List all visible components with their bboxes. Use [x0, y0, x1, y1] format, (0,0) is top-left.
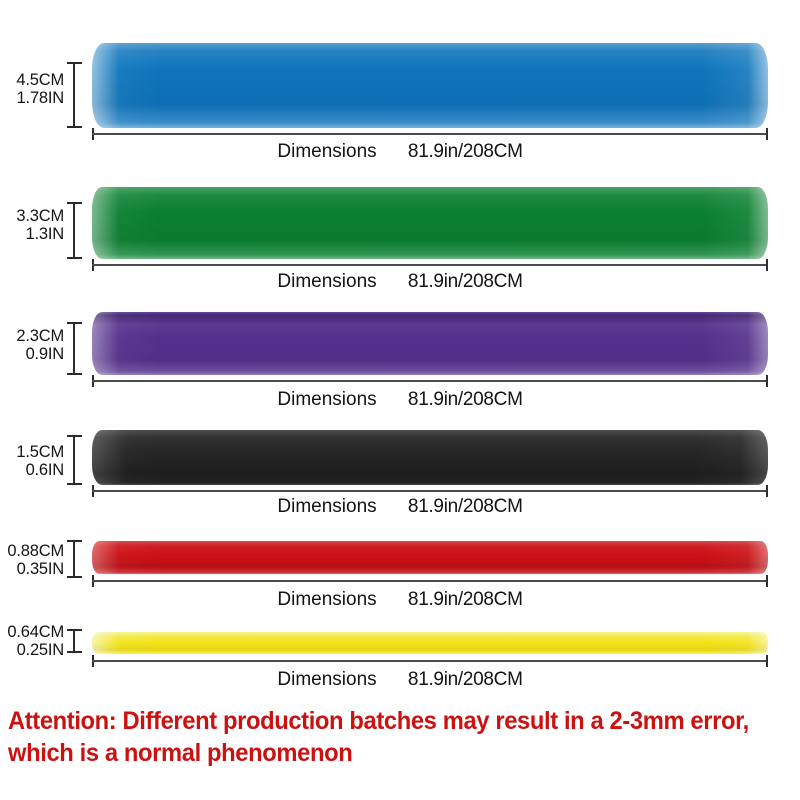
- red-band-length-caption: Dimensions 81.9in/208CM: [0, 589, 800, 611]
- length-tick-right-icon: [766, 375, 768, 387]
- caption-label: Dimensions: [277, 271, 376, 292]
- measure-cap-bottom-icon: [67, 126, 82, 128]
- red-band-length-measure: [92, 575, 768, 587]
- yellow-band-height-measure: [66, 629, 82, 653]
- measure-cap-bottom-icon: [67, 576, 82, 578]
- black-band-width-cm: 1.5CM: [8, 444, 64, 462]
- purple-band-length-measure: [92, 375, 768, 387]
- green-band-height-measure: [66, 202, 82, 259]
- attention-note-line-2: which is a normal phenomenon: [8, 738, 759, 770]
- attention-note-line-1: Attention: Different production batches …: [8, 706, 759, 738]
- length-line-icon: [92, 490, 768, 492]
- blue-band-width-label: 4.5CM 1.78IN: [8, 72, 64, 108]
- red-band-width-cm: 0.88CM: [2, 543, 64, 561]
- measure-stem-icon: [73, 62, 75, 128]
- yellow-band-width-label: 0.64CM 0.25IN: [2, 624, 64, 660]
- black-band-height-measure: [66, 435, 82, 485]
- blue-band-width-in: 1.78IN: [8, 90, 64, 108]
- red-band-shape: [92, 541, 768, 574]
- caption-label: Dimensions: [277, 389, 376, 410]
- blue-band-height-measure: [66, 62, 82, 128]
- length-tick-right-icon: [766, 575, 768, 587]
- caption-value: 81.9in/208CM: [408, 496, 523, 517]
- blue-band-shape: [92, 43, 768, 128]
- measure-cap-bottom-icon: [67, 257, 82, 259]
- purple-band-width-label: 2.3CM 0.9IN: [8, 328, 64, 364]
- length-tick-right-icon: [766, 128, 768, 140]
- caption-value: 81.9in/208CM: [408, 271, 523, 292]
- yellow-band-length-measure: [92, 655, 768, 667]
- blue-band-length-measure: [92, 128, 768, 140]
- caption-value: 81.9in/208CM: [408, 389, 523, 410]
- band-row-red: 0.88CM 0.35IN Dimensions 81.9in/208CM: [0, 520, 800, 615]
- length-tick-right-icon: [766, 655, 768, 667]
- yellow-band-width-in: 0.25IN: [2, 642, 64, 660]
- measure-cap-bottom-icon: [67, 373, 82, 375]
- blue-band-width-cm: 4.5CM: [8, 72, 64, 90]
- green-band-shape: [92, 187, 768, 259]
- caption-label: Dimensions: [277, 669, 376, 690]
- length-line-icon: [92, 264, 768, 266]
- purple-band-width-cm: 2.3CM: [8, 328, 64, 346]
- green-band-width-cm: 3.3CM: [8, 208, 64, 226]
- blue-band-length-caption: Dimensions 81.9in/208CM: [0, 141, 800, 163]
- caption-value: 81.9in/208CM: [408, 589, 523, 610]
- measure-stem-icon: [73, 629, 75, 653]
- measure-stem-icon: [73, 540, 75, 578]
- green-band-length-measure: [92, 259, 768, 271]
- band-row-black: 1.5CM 0.6IN Dimensions 81.9in/208CM: [0, 410, 800, 520]
- caption-label: Dimensions: [277, 141, 376, 162]
- band-row-green: 3.3CM 1.3IN Dimensions 81.9in/208CM: [0, 170, 800, 290]
- measure-stem-icon: [73, 202, 75, 259]
- purple-band-shape: [92, 312, 768, 375]
- black-band-width-label: 1.5CM 0.6IN: [8, 444, 64, 480]
- purple-band-length-caption: Dimensions 81.9in/208CM: [0, 389, 800, 411]
- measure-cap-bottom-icon: [67, 651, 82, 653]
- length-line-icon: [92, 380, 768, 382]
- caption-label: Dimensions: [277, 496, 376, 517]
- band-row-blue: 4.5CM 1.78IN Dimensions 81.9in/208CM: [0, 0, 800, 170]
- measure-stem-icon: [73, 322, 75, 375]
- black-band-width-in: 0.6IN: [8, 462, 64, 480]
- red-band-width-in: 0.35IN: [2, 561, 64, 579]
- band-row-purple: 2.3CM 0.9IN Dimensions 81.9in/208CM: [0, 290, 800, 410]
- black-band-length-caption: Dimensions 81.9in/208CM: [0, 496, 800, 518]
- purple-band-height-measure: [66, 322, 82, 375]
- caption-value: 81.9in/208CM: [408, 669, 523, 690]
- black-band-shape: [92, 430, 768, 485]
- measure-cap-bottom-icon: [67, 483, 82, 485]
- band-size-diagram: 4.5CM 1.78IN Dimensions 81.9in/208CM 3.3…: [0, 0, 800, 800]
- attention-note: Attention: Different production batches …: [8, 706, 759, 769]
- length-line-icon: [92, 660, 768, 662]
- measure-stem-icon: [73, 435, 75, 485]
- length-tick-right-icon: [766, 259, 768, 271]
- length-line-icon: [92, 580, 768, 582]
- green-band-width-label: 3.3CM 1.3IN: [8, 208, 64, 244]
- yellow-band-length-caption: Dimensions 81.9in/208CM: [0, 669, 800, 691]
- green-band-width-in: 1.3IN: [8, 226, 64, 244]
- caption-value: 81.9in/208CM: [408, 141, 523, 162]
- red-band-width-label: 0.88CM 0.35IN: [2, 543, 64, 579]
- yellow-band-width-cm: 0.64CM: [2, 624, 64, 642]
- purple-band-width-in: 0.9IN: [8, 346, 64, 364]
- yellow-band-shape: [92, 632, 768, 654]
- caption-label: Dimensions: [277, 589, 376, 610]
- band-row-yellow: 0.64CM 0.25IN Dimensions 81.9in/208CM: [0, 615, 800, 705]
- red-band-height-measure: [66, 540, 82, 578]
- length-line-icon: [92, 133, 768, 135]
